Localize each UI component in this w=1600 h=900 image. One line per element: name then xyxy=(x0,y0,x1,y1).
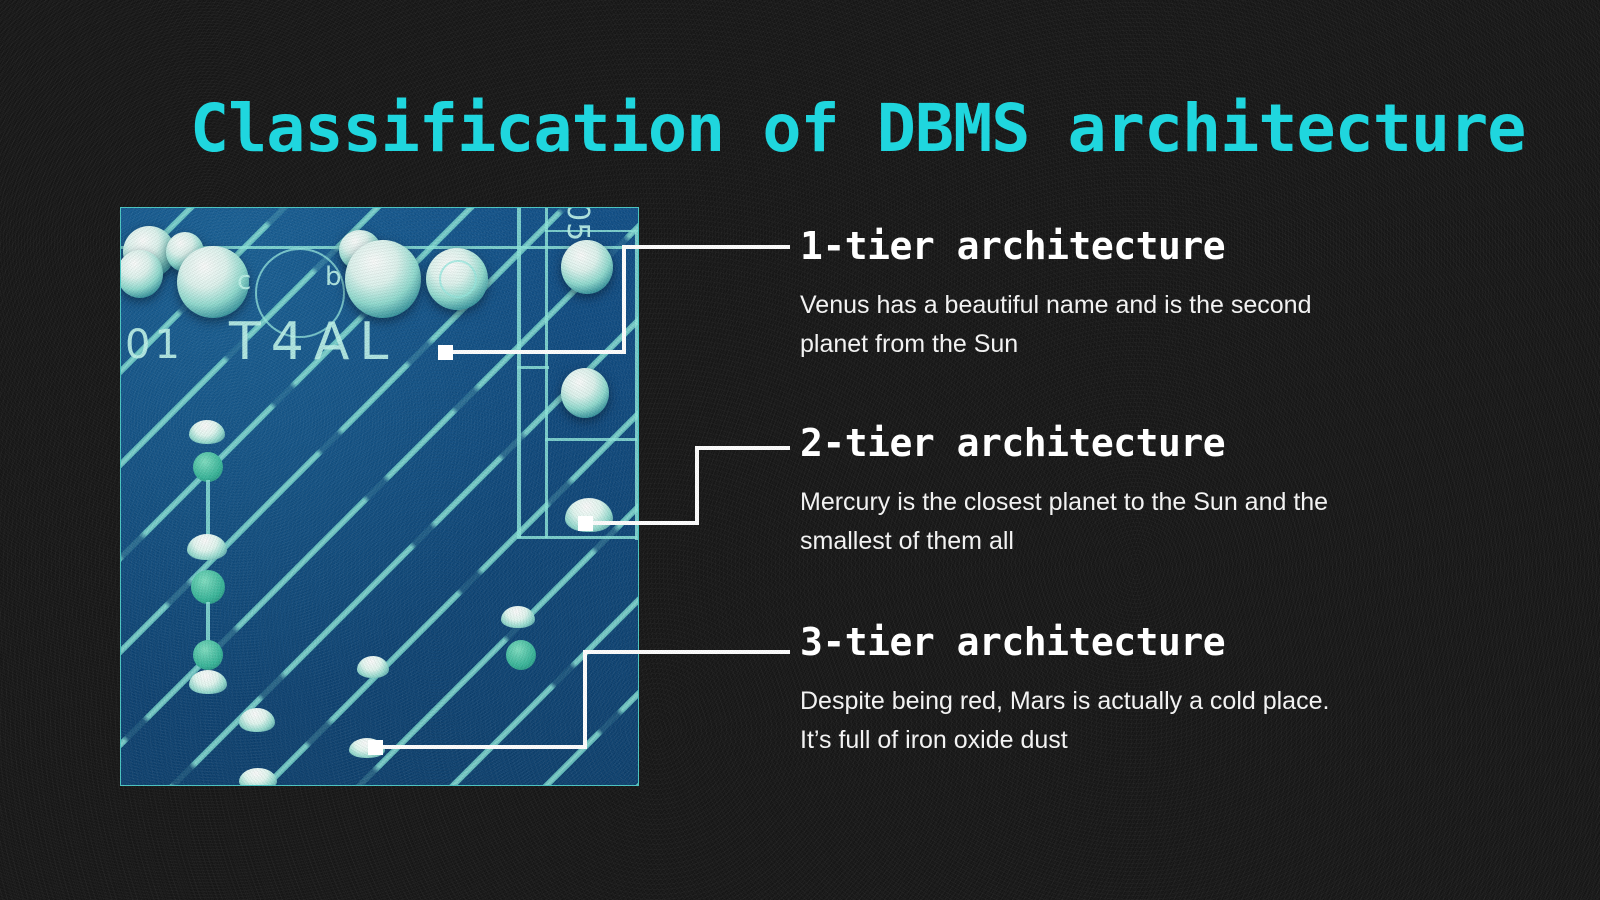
callout-block-2: 2-tier architecture Mercury is the close… xyxy=(800,421,1360,561)
callout-heading-1: 1-tier architecture xyxy=(800,224,1360,268)
leader-marker-2 xyxy=(578,516,593,531)
callout-body-3: Despite being red, Mars is actually a co… xyxy=(800,682,1345,760)
leader-marker-1 xyxy=(438,345,453,360)
slide-root: Classification of DBMS architecture c b … xyxy=(0,0,1600,900)
photo-grain xyxy=(121,208,638,785)
callout-heading-3: 3-tier architecture xyxy=(800,620,1360,664)
leader-marker-3 xyxy=(368,740,383,755)
circuit-board-image: c b 01 T4AL 05 xyxy=(121,208,638,785)
callout-body-1: Venus has a beautiful name and is the se… xyxy=(800,286,1345,364)
callout-body-2: Mercury is the closest planet to the Sun… xyxy=(800,483,1345,561)
callout-heading-2: 2-tier architecture xyxy=(800,421,1360,465)
callout-block-1: 1-tier architecture Venus has a beautifu… xyxy=(800,224,1360,364)
callout-block-3: 3-tier architecture Despite being red, M… xyxy=(800,620,1360,760)
page-title: Classification of DBMS architecture xyxy=(190,92,1402,166)
